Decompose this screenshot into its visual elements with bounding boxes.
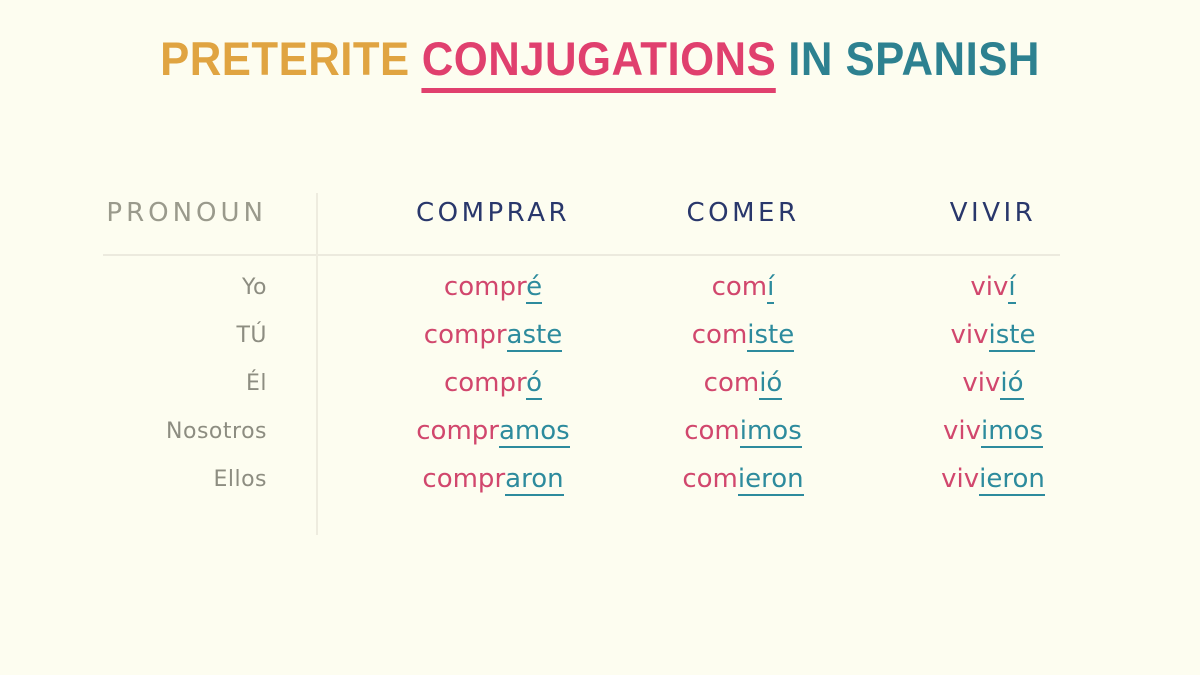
table-row: Él compró comió vivió (0, 359, 1200, 407)
conjugation-cell: compramos (368, 416, 618, 446)
verb-stem: viv (962, 368, 1000, 398)
pronoun-cell: Ellos (0, 467, 267, 492)
table-body: Yo compré comí viví TÚ compraste comiste… (0, 241, 1200, 503)
table-row: TÚ compraste comiste viviste (0, 311, 1200, 359)
table-row: Nosotros compramos comimos vivimos (0, 407, 1200, 455)
verb-stem: compr (416, 416, 499, 446)
verb-ending: í (767, 272, 774, 304)
conjugation-cell: vivimos (868, 416, 1118, 446)
table-row: Yo compré comí viví (0, 263, 1200, 311)
verb-stem: viv (943, 416, 981, 446)
verb-ending: í (1008, 272, 1015, 304)
verb-ending: ió (759, 368, 782, 400)
verb-ending: amos (499, 416, 570, 448)
verb-ending: é (526, 272, 542, 304)
verb-stem: compr (422, 464, 505, 494)
verb-stem: com (712, 272, 768, 302)
verb-ending: ieron (738, 464, 804, 496)
pronoun-cell: Él (0, 371, 267, 396)
column-header-comprar: COMPRAR (368, 198, 618, 228)
conjugation-cell: viví (868, 272, 1118, 302)
conjugation-cell: comió (618, 368, 868, 398)
conjugation-cell: compré (368, 272, 618, 302)
column-header-pronoun: PRONOUN (0, 198, 267, 228)
verb-stem: compr (424, 320, 507, 350)
verb-ending: iste (989, 320, 1036, 352)
conjugation-cell: vivieron (868, 464, 1118, 494)
conjugation-cell: comimos (618, 416, 868, 446)
verb-stem: viv (951, 320, 989, 350)
verb-stem: viv (941, 464, 979, 494)
verb-stem: com (682, 464, 738, 494)
conjugation-cell: vivió (868, 368, 1118, 398)
verb-ending: imos (981, 416, 1043, 448)
conjugation-table: PRONOUN COMPRAR COMER VIVIR Yo compré co… (0, 185, 1200, 503)
verb-ending: aste (507, 320, 563, 352)
conjugation-cell: comiste (618, 320, 868, 350)
verb-ending: ieron (979, 464, 1045, 496)
verb-ending: iste (747, 320, 794, 352)
verb-stem: com (684, 416, 740, 446)
title-word-preterite: PRETERITE (160, 32, 409, 85)
conjugation-cell: viviste (868, 320, 1118, 350)
conjugation-cell: compraste (368, 320, 618, 350)
conjugation-cell: compraron (368, 464, 618, 494)
verb-stem: compr (444, 368, 526, 398)
column-header-comer: COMER (618, 198, 868, 228)
table-row: Ellos compraron comieron vivieron (0, 455, 1200, 503)
pronoun-cell: Yo (0, 275, 267, 300)
conjugation-cell: compró (368, 368, 618, 398)
conjugation-cell: comieron (618, 464, 868, 494)
verb-stem: com (692, 320, 748, 350)
verb-ending: ó (526, 368, 542, 400)
title-word-in-spanish: IN SPANISH (788, 32, 1040, 85)
verb-stem: com (704, 368, 760, 398)
column-header-vivir: VIVIR (868, 198, 1118, 228)
conjugation-cell: comí (618, 272, 868, 302)
verb-ending: imos (740, 416, 802, 448)
table-header-row: PRONOUN COMPRAR COMER VIVIR (0, 185, 1200, 241)
verb-stem: compr (444, 272, 526, 302)
page-title: PRETERITECONJUGATIONSIN SPANISH (42, 34, 1158, 83)
pronoun-cell: TÚ (0, 323, 267, 348)
pronoun-cell: Nosotros (0, 419, 267, 444)
title-word-conjugations: CONJUGATIONS (422, 32, 776, 93)
verb-stem: viv (970, 272, 1008, 302)
verb-ending: ió (1000, 368, 1023, 400)
verb-ending: aron (505, 464, 563, 496)
